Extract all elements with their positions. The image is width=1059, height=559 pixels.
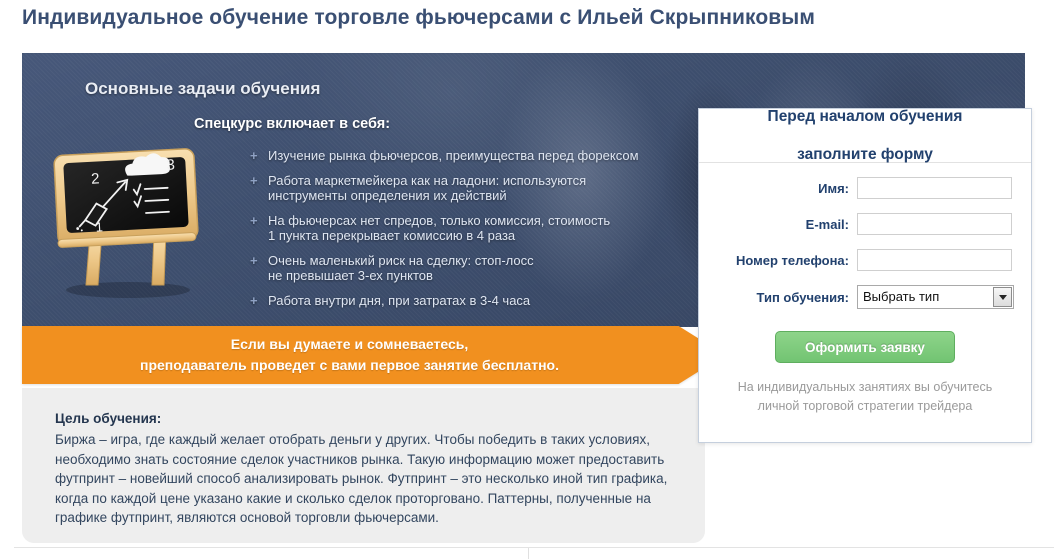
chalkboard-illustration: 2 3 1 bbox=[50, 140, 215, 300]
goal-card: Цель обучения: Биржа – игра, где каждый … bbox=[22, 388, 705, 543]
plus-icon: + bbox=[250, 173, 258, 189]
page-title: Индивидуальное обучение торговле фьючерс… bbox=[22, 6, 815, 30]
plus-icon: + bbox=[250, 293, 258, 309]
svg-text:1: 1 bbox=[95, 219, 103, 234]
promo-ribbon: Если вы думаете и сомневаетесь, преподав… bbox=[22, 326, 725, 384]
plus-icon: + bbox=[250, 213, 258, 229]
svg-text:3: 3 bbox=[166, 156, 175, 173]
form-note-line2: личной торговой стратегии трейдера bbox=[721, 397, 1009, 416]
plus-icon: + bbox=[250, 148, 258, 164]
training-type-label: Тип обучения: bbox=[699, 290, 857, 305]
plus-icon: + bbox=[250, 253, 258, 269]
training-type-selected-value: Выбрать тип bbox=[863, 289, 939, 304]
goal-card-text: Биржа – игра, где каждый желает отобрать… bbox=[55, 430, 680, 528]
submit-application-button[interactable]: Оформить заявку bbox=[775, 331, 955, 363]
list-item-line2: не превышает 3-ех пунктов bbox=[268, 268, 710, 284]
list-item-line2: 1 пункта перекрывает комиссию в 4 раза bbox=[268, 228, 710, 244]
form-header: Перед началом обучения заполните форму bbox=[699, 109, 1031, 163]
ribbon-line1: Если вы думаете и сомневаетесь, bbox=[22, 334, 677, 355]
bottom-vertical-divider bbox=[528, 548, 529, 559]
hero-feature-list: + Изучение рынка фьючерсов, преимущества… bbox=[250, 148, 710, 317]
bottom-divider bbox=[14, 547, 1054, 548]
list-item: + Работа внутри дня, при затратах в 3-4 … bbox=[250, 293, 710, 309]
training-type-select[interactable]: Выбрать тип bbox=[857, 285, 1014, 309]
phone-label: Номер телефона: bbox=[699, 253, 857, 268]
signup-form-panel: Перед началом обучения заполните форму И… bbox=[698, 108, 1032, 443]
list-item-line2: инструменты определения их действий bbox=[268, 188, 710, 204]
list-item: + Изучение рынка фьючерсов, преимущества… bbox=[250, 148, 710, 164]
chevron-down-icon[interactable] bbox=[993, 287, 1012, 307]
email-input[interactable] bbox=[857, 213, 1012, 235]
list-item: + Работа маркетмейкера как на ладони: ис… bbox=[250, 173, 710, 204]
form-row-phone: Номер телефона: bbox=[699, 249, 1031, 271]
list-item-line1: Очень маленький риск на сделку: стоп-лос… bbox=[268, 253, 534, 268]
hero-subheading: Спецкурс включает в себя: bbox=[194, 116, 390, 132]
list-item: + Очень маленький риск на сделку: стоп-л… bbox=[250, 253, 710, 284]
form-note: На индивидуальных занятиях вы обучитесь … bbox=[699, 378, 1031, 416]
form-title-line1: Перед началом обучения bbox=[768, 107, 963, 126]
name-input[interactable] bbox=[857, 177, 1012, 199]
list-item-line1: На фьючерсах нет спредов, только комисси… bbox=[268, 213, 610, 228]
list-item-line1: Работа маркетмейкера как на ладони: испо… bbox=[268, 173, 586, 188]
svg-text:2: 2 bbox=[91, 170, 100, 187]
list-item-line1: Работа внутри дня, при затратах в 3-4 ча… bbox=[268, 293, 530, 308]
email-label: E-mail: bbox=[699, 217, 857, 232]
form-row-name: Имя: bbox=[699, 177, 1031, 199]
ribbon-line2: преподаватель проведет с вами первое зан… bbox=[22, 355, 677, 376]
goal-card-heading: Цель обучения: bbox=[55, 411, 161, 426]
hero-heading: Основные задачи обучения bbox=[85, 79, 320, 99]
form-row-email: E-mail: bbox=[699, 213, 1031, 235]
list-item: + На фьючерсах нет спредов, только комис… bbox=[250, 213, 710, 244]
form-row-training-type: Тип обучения: Выбрать тип bbox=[699, 285, 1031, 309]
phone-input[interactable] bbox=[857, 249, 1012, 271]
form-title-line2: заполните форму bbox=[768, 145, 963, 164]
form-note-line1: На индивидуальных занятиях вы обучитесь bbox=[721, 378, 1009, 397]
list-item-line1: Изучение рынка фьючерсов, преимущества п… bbox=[268, 148, 639, 163]
name-label: Имя: bbox=[699, 181, 857, 196]
